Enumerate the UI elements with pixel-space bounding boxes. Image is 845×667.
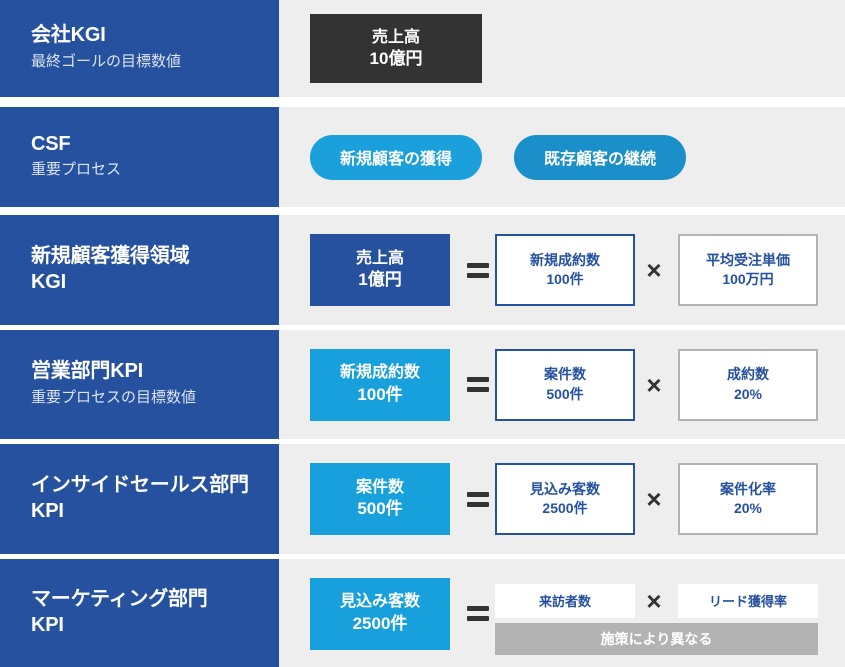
row-marketing-kpi: マーケティング部門 KPI 見込み客数 2500件 来訪者数 × リード獲得率 … <box>0 559 845 667</box>
row-company-kgi: 会社KGI 最終ゴールの目標数値 売上高 10億円 <box>0 0 845 97</box>
row-label-new-customer-kgi: 新規顧客獲得領域 KGI <box>0 215 279 324</box>
row-csf: CSF 重要プロセス 新規顧客の獲得 既存顧客の継続 <box>0 107 845 208</box>
csf-pill-label: 新規顧客の獲得 <box>340 145 452 169</box>
row-label-subtitle: 重要プロセス <box>31 159 279 182</box>
factor-label: 見込み客数 <box>530 480 600 499</box>
metric-label: 売上高 <box>356 248 404 269</box>
row-label-title: 会社KGI <box>31 23 279 49</box>
multiply-operator-icon: × <box>636 584 672 618</box>
equals-glyph <box>467 263 489 278</box>
row-label-csf: CSF 重要プロセス <box>0 107 279 208</box>
factor-value: 100万円 <box>722 270 773 289</box>
equals-operator-icon <box>460 234 496 306</box>
factor-box-new-contracts: 新規成約数 100件 <box>495 234 635 306</box>
factor-box-deals: 案件数 500件 <box>495 349 635 421</box>
metric-label: 新規成約数 <box>340 362 420 383</box>
factor-box-close-rate: 成約数 20% <box>678 349 818 421</box>
metric-value: 1億円 <box>358 269 401 292</box>
row-label-subtitle: 最終ゴールの目標数値 <box>31 51 279 74</box>
factor-value: 20% <box>734 385 762 404</box>
factor-value: 20% <box>734 499 762 518</box>
factor-box-visitors: 来訪者数 <box>495 584 635 618</box>
metric-label: 案件数 <box>356 477 404 498</box>
factor-label: 案件化率 <box>720 480 776 499</box>
csf-pill-existing-customer[interactable]: 既存顧客の継続 <box>514 135 686 180</box>
note-bar-varies-by-measure: 施策により異なる <box>495 623 818 655</box>
multiply-operator-icon: × <box>636 349 672 421</box>
factor-box-average-order-value: 平均受注単価 100万円 <box>678 234 818 306</box>
metric-value: 100件 <box>357 384 402 407</box>
row-label-sales-kpi: 営業部門KPI 重要プロセスの目標数値 <box>0 330 279 439</box>
equals-glyph <box>467 606 489 621</box>
csf-pill-label: 既存顧客の継続 <box>544 145 656 169</box>
factor-label: リード獲得率 <box>709 591 787 610</box>
times-glyph: × <box>646 486 661 512</box>
kpi-tree-diagram: 会社KGI 最終ゴールの目標数値 売上高 10億円 CSF 重要プロセス 新規顧… <box>0 0 845 667</box>
metric-box-new-contracts: 新規成約数 100件 <box>310 349 450 421</box>
row-content-company-kgi: 売上高 10億円 <box>279 0 845 97</box>
row-inside-sales-kpi: インサイドセールス部門 KPI 案件数 500件 見込み客数 2500件 × 案… <box>0 444 845 553</box>
row-content-csf: 新規顧客の獲得 既存顧客の継続 <box>279 107 845 208</box>
times-glyph: × <box>646 257 661 283</box>
multiply-operator-icon: × <box>636 234 672 306</box>
row-label-title: インサイドセールス部門 KPI <box>31 473 279 524</box>
metric-value: 10億円 <box>370 48 423 70</box>
metric-label: 売上高 <box>372 27 420 48</box>
factor-label: 来訪者数 <box>539 591 591 610</box>
row-label-title: 営業部門KPI <box>31 359 279 385</box>
factor-value: 500件 <box>546 385 583 404</box>
metric-value: 2500件 <box>353 613 408 636</box>
equals-operator-icon <box>460 349 496 421</box>
row-label-marketing-kpi: マーケティング部門 KPI <box>0 559 279 667</box>
factor-label: 成約数 <box>727 365 769 384</box>
row-sales-kpi: 営業部門KPI 重要プロセスの目標数値 新規成約数 100件 案件数 500件 … <box>0 330 845 439</box>
row-new-customer-kgi: 新規顧客獲得領域 KGI 売上高 1億円 新規成約数 100件 × 平均受注単価… <box>0 215 845 324</box>
metric-label: 見込み客数 <box>340 591 420 612</box>
times-glyph: × <box>646 588 661 614</box>
csf-pill-new-customer[interactable]: 新規顧客の獲得 <box>310 135 482 180</box>
metric-value: 500件 <box>357 498 402 521</box>
multiply-operator-icon: × <box>636 463 672 535</box>
row-label-title: マーケティング部門 KPI <box>31 587 279 638</box>
row-content-new-customer-kgi: 売上高 1億円 新規成約数 100件 × 平均受注単価 100万円 <box>279 215 845 324</box>
row-label-title: 新規顧客獲得領域 KGI <box>31 244 279 295</box>
row-label-inside-sales-kpi: インサイドセールス部門 KPI <box>0 444 279 553</box>
times-glyph: × <box>646 372 661 398</box>
factor-box-lead-acquisition-rate: リード獲得率 <box>678 584 818 618</box>
row-label-subtitle: 重要プロセスの目標数値 <box>31 387 279 410</box>
row-content-inside-sales-kpi: 案件数 500件 見込み客数 2500件 × 案件化率 20% <box>279 444 845 553</box>
factor-box-prospects: 見込み客数 2500件 <box>495 463 635 535</box>
equals-operator-icon <box>460 463 496 535</box>
factor-label: 新規成約数 <box>530 251 600 270</box>
equals-glyph <box>467 492 489 507</box>
row-label-title: CSF <box>31 132 279 158</box>
note-label: 施策により異なる <box>601 629 713 649</box>
row-content-marketing-kpi: 見込み客数 2500件 来訪者数 × リード獲得率 施策により異なる <box>279 559 845 667</box>
metric-box-revenue-total: 売上高 10億円 <box>310 14 482 83</box>
factor-label: 案件数 <box>544 365 586 384</box>
equals-operator-icon <box>460 578 496 650</box>
metric-box-prospects: 見込み客数 2500件 <box>310 578 450 650</box>
factor-value: 100件 <box>546 270 583 289</box>
factor-label: 平均受注単価 <box>706 251 790 270</box>
factor-value: 2500件 <box>542 499 587 518</box>
equals-glyph <box>467 377 489 392</box>
row-content-sales-kpi: 新規成約数 100件 案件数 500件 × 成約数 20% <box>279 330 845 439</box>
row-label-company-kgi: 会社KGI 最終ゴールの目標数値 <box>0 0 279 97</box>
factor-box-deal-conversion-rate: 案件化率 20% <box>678 463 818 535</box>
metric-box-revenue-new: 売上高 1億円 <box>310 234 450 306</box>
metric-box-deals: 案件数 500件 <box>310 463 450 535</box>
